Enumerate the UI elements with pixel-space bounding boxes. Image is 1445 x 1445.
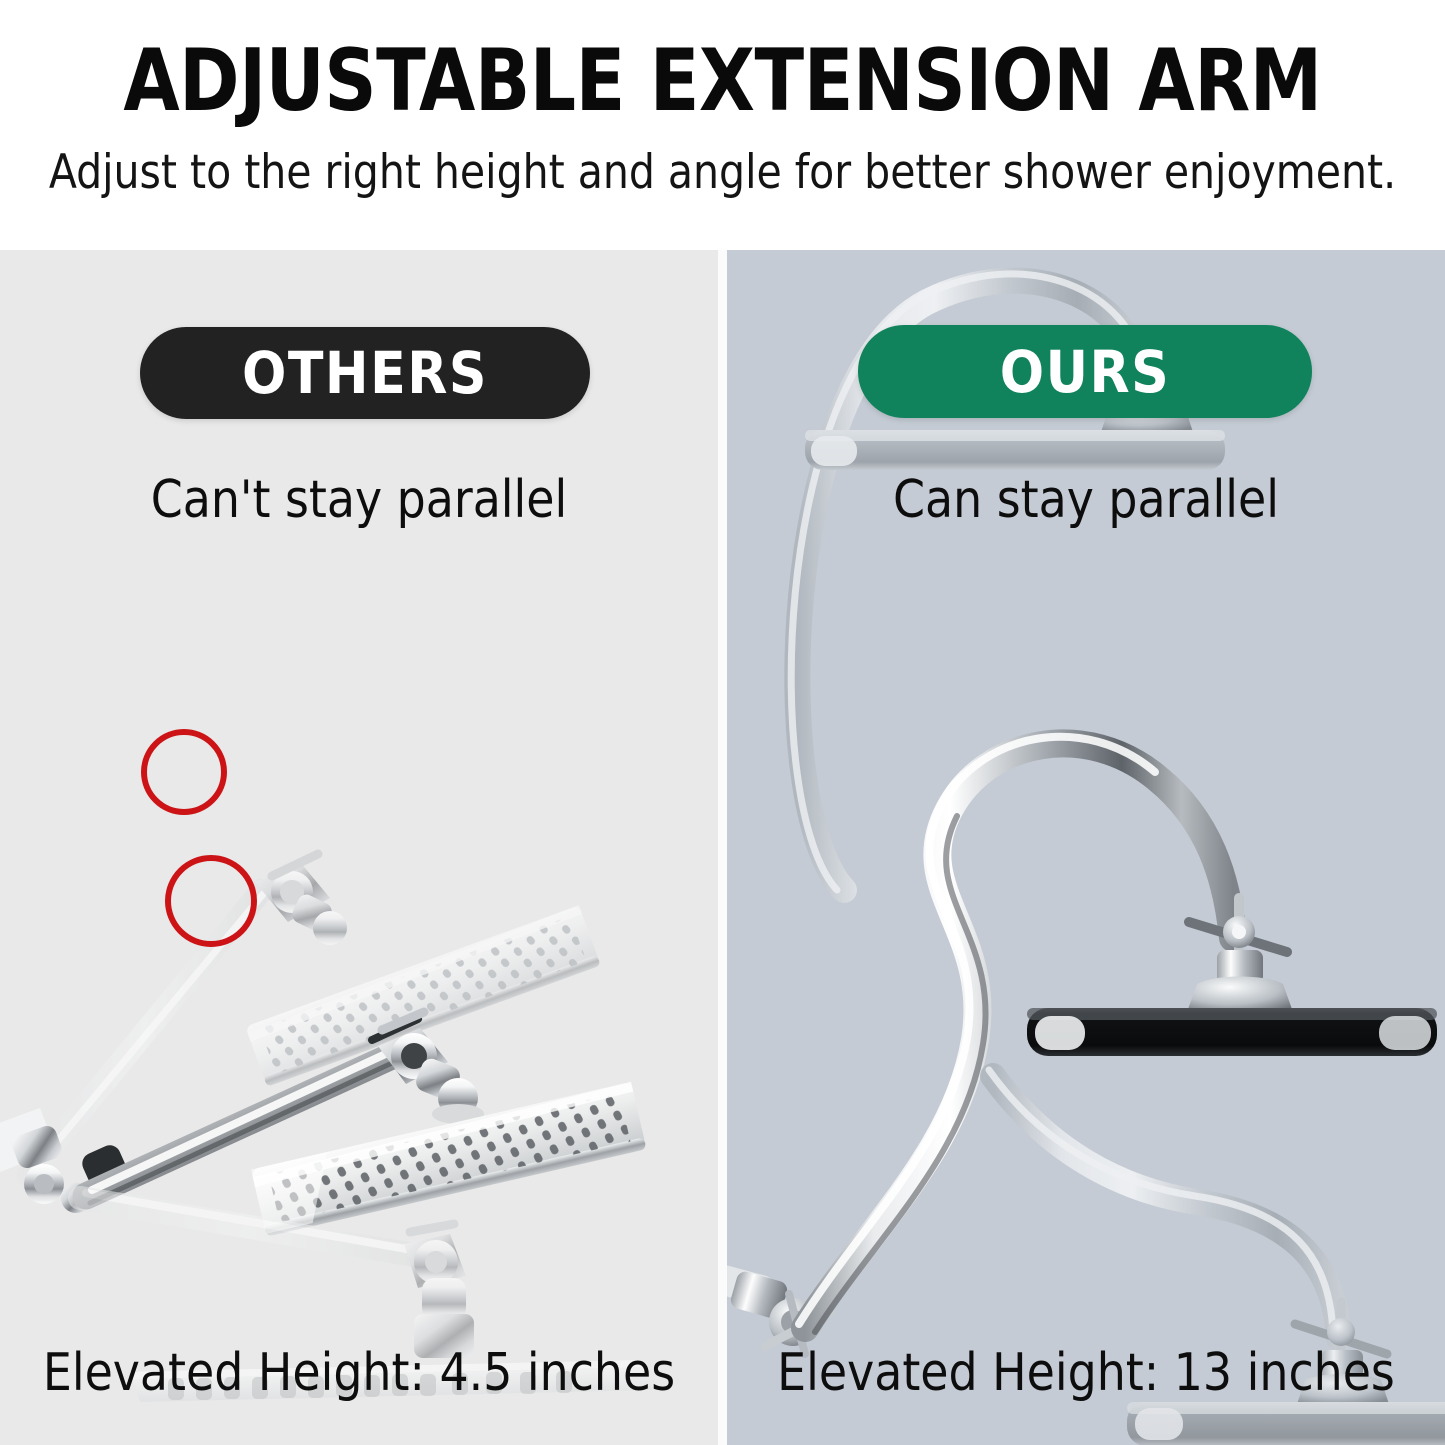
panel-divider xyxy=(718,250,727,1445)
page-title: ADJUSTABLE EXTENSION ARM xyxy=(43,38,1401,124)
header: ADJUSTABLE EXTENSION ARM Adjust to the r… xyxy=(0,0,1445,250)
caption-ours-top: Can stay parallel xyxy=(734,470,1438,530)
panel-others: OTHERS Can't stay parallel Elevated Heig… xyxy=(0,250,718,1445)
gooseneck-assembly-middle xyxy=(727,737,1437,1354)
caption-others-top: Can't stay parallel xyxy=(7,470,711,530)
caption-ours-bottom: Elevated Height: 13 inches xyxy=(734,1343,1438,1403)
badge-others: OTHERS xyxy=(140,327,590,419)
infographic-page: ADJUSTABLE EXTENSION ARM Adjust to the r… xyxy=(0,0,1445,1445)
badge-ours: OURS xyxy=(858,325,1312,418)
caption-others-bottom: Elevated Height: 4.5 inches xyxy=(7,1343,711,1403)
ours-product-illustration xyxy=(727,250,1445,1445)
page-subtitle: Adjust to the right height and angle for… xyxy=(22,148,1424,199)
comparison-panels: OTHERS Can't stay parallel Elevated Heig… xyxy=(0,250,1445,1445)
others-product-illustration xyxy=(0,250,718,1445)
badge-ours-label: OURS xyxy=(1000,338,1170,406)
badge-others-label: OTHERS xyxy=(242,339,488,407)
panel-ours: OURS Can stay parallel Elevated Height: … xyxy=(727,250,1445,1445)
